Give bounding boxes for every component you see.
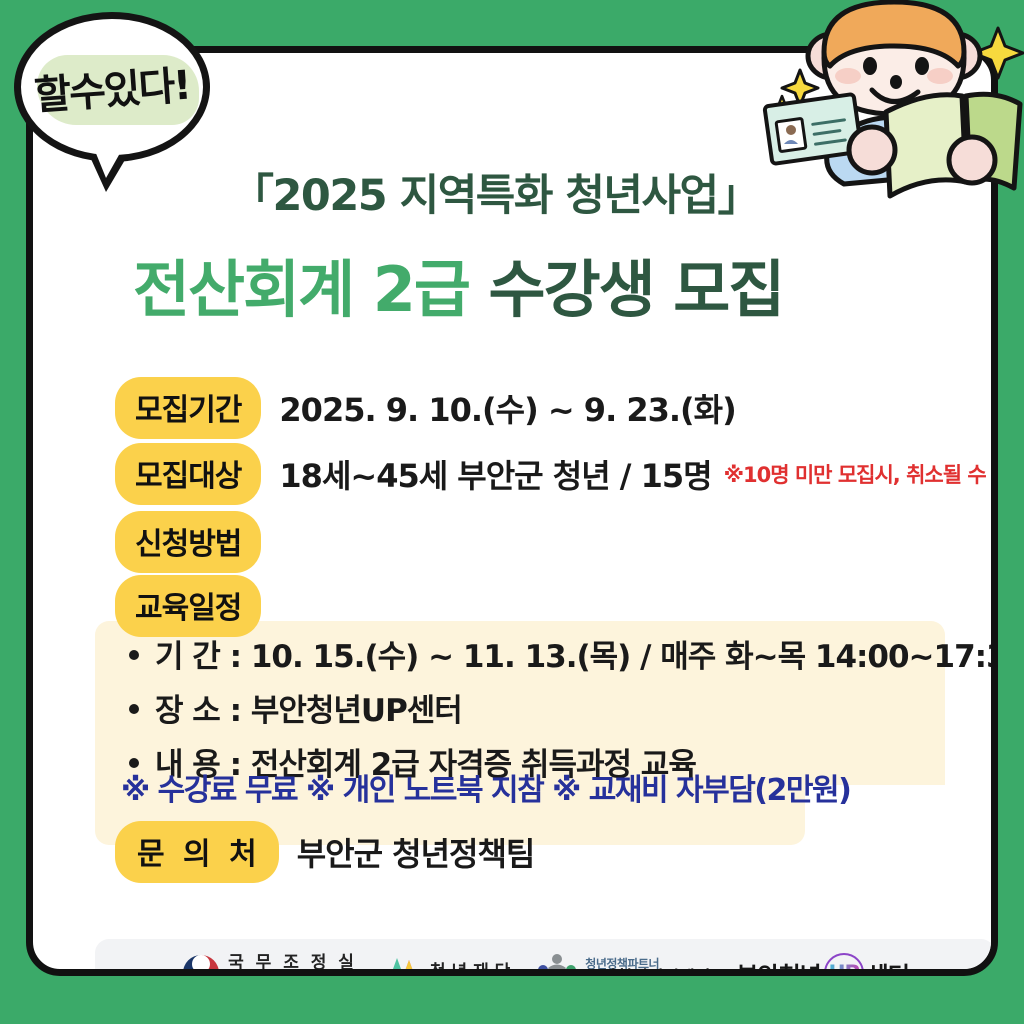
label-eligibility: 모집대상 <box>115 443 261 505</box>
speech-bubble-text: 할수있다! <box>32 53 191 122</box>
value-contact: 부안군 청년정책팀 <box>297 829 535 875</box>
star-icon <box>383 953 423 976</box>
bullet-dot-icon <box>129 704 139 714</box>
poster-subtitle: 「2025 지역특화 청년사업」 <box>231 161 759 223</box>
character-cheek-right <box>927 68 953 84</box>
info-row-schedule: 교육일정 <box>115 575 261 637</box>
logo-youth-foundation-label: 청 년 재 단 <box>430 964 510 976</box>
up-badge-icon: UP <box>824 953 864 976</box>
character-cheek-left <box>835 68 861 84</box>
logo-buan-youth-up-center: 부안청년 UP 센터 <box>736 953 909 976</box>
info-row-recruit-period: 모집기간 2025. 9. 10.(수) ~ 9. 23.(화) <box>115 377 736 439</box>
title-rest: 수강생 모집 <box>469 253 783 326</box>
student-character-illustration <box>760 0 1024 215</box>
bullet-text-place: 장 소 : 부안청년UP센터 <box>155 685 462 730</box>
logo-opm-line2: 청년정책조정실 <box>228 971 337 976</box>
poster-root: 「2025 지역특화 청년사업」 전산회계 2급 수강생 모집 모집기간 202… <box>0 0 1024 1024</box>
character-nose <box>890 75 902 89</box>
logo-central-youth-center-name: 중앙청년지원센터 <box>585 968 710 976</box>
logo-opm-line1: 국 무 조 정 실 <box>228 955 357 973</box>
info-row-apply-method: 신청방법 <box>115 511 261 573</box>
character-eye-right <box>915 57 929 75</box>
page-title: 전산회계 2급 수강생 모집 <box>133 239 783 329</box>
label-contact: 문 의 처 <box>115 821 279 883</box>
character-hand-left <box>849 127 895 173</box>
people-circle-icon <box>536 952 578 976</box>
value-eligibility: 18세~45세 부안군 청년 / 15명 <box>279 451 711 497</box>
note-cancellation: ※10명 미만 모집시, 취소될 수 있음 <box>724 459 998 489</box>
title-highlight: 전산회계 2급 <box>133 253 469 326</box>
logo-central-youth-center-label: 청년정책파트너 중앙청년지원센터 <box>585 958 710 976</box>
character-hand-right <box>949 137 995 183</box>
logo-opm: 국 무 조 정 실 청년정책조정실 <box>181 953 357 976</box>
speech-bubble-tail-inner <box>93 146 124 178</box>
logo-opm-label: 국 무 조 정 실 청년정책조정실 <box>228 955 357 976</box>
taegeuk-icon <box>181 953 221 976</box>
info-row-eligibility: 모집대상 18세~45세 부안군 청년 / 15명 ※10명 미만 모집시, 취… <box>115 443 998 505</box>
label-schedule: 교육일정 <box>115 575 261 637</box>
bullet-dot-icon <box>129 650 139 660</box>
label-recruit-period: 모집기간 <box>115 377 261 439</box>
detail-note-line: ※ 수강료 무료 ※ 개인 노트북 지참 ※ 교재비 자부담(2만원) <box>121 765 850 809</box>
list-item: 기 간 : 10. 15.(수) ~ 11. 13.(목) / 매주 화~목 1… <box>129 631 998 676</box>
list-item: 장 소 : 부안청년UP센터 <box>129 685 998 730</box>
bullet-text-period: 기 간 : 10. 15.(수) ~ 11. 13.(목) / 매주 화~목 1… <box>155 631 998 676</box>
label-apply-method: 신청방법 <box>115 511 261 573</box>
logo-up-suffix: 센터 <box>867 956 909 977</box>
value-recruit-period: 2025. 9. 10.(수) ~ 9. 23.(화) <box>279 385 735 431</box>
logo-central-youth-center: 청년정책파트너 중앙청년지원센터 <box>536 952 710 976</box>
speech-bubble: 할수있다! <box>14 12 210 162</box>
logo-up-prefix: 부안청년 <box>736 956 820 977</box>
info-row-contact: 문 의 처 부안군 청년정책팀 <box>115 821 534 883</box>
logo-youth-foundation: 청 년 재 단 <box>383 953 510 976</box>
footer-logo-bar: 국 무 조 정 실 청년정책조정실 청 년 재 단 <box>95 939 995 976</box>
character-eye-left <box>863 57 877 75</box>
